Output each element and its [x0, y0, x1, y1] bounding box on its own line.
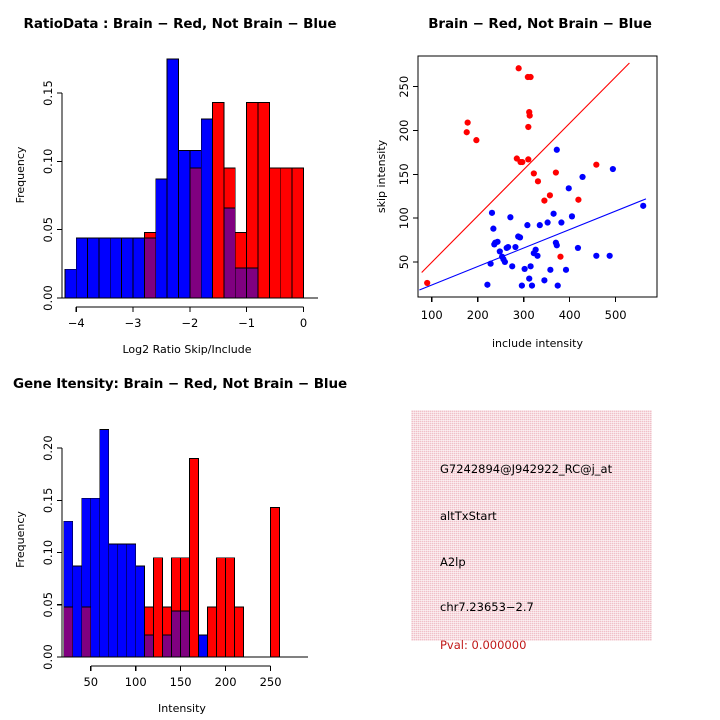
- scatter-point-not-brain: [522, 266, 528, 272]
- plot-area: [419, 63, 646, 290]
- panel-ratio-histogram: RatioData : Brain − Red, Not Brain − Blu…: [0, 0, 360, 360]
- scatter-point-not-brain: [509, 263, 515, 269]
- scatter-point-not-brain: [533, 247, 539, 253]
- histogram-bar-not-brain: [156, 179, 167, 298]
- histogram-bar-brain: [208, 607, 217, 657]
- scatter-point-not-brain: [575, 245, 581, 251]
- histogram-bar-not-brain: [127, 544, 136, 657]
- histogram-bar-not-brain: [110, 238, 121, 298]
- x-axis-tick-label: 200: [467, 308, 489, 322]
- scatter-point-not-brain: [534, 253, 540, 259]
- scatter-point-not-brain: [563, 267, 569, 273]
- y-axis-tick-label: 0.00: [41, 285, 55, 311]
- histogram-bar-not-brain: [65, 269, 76, 298]
- histogram-bar-overlap: [64, 607, 73, 657]
- y-axis-tick-label: 0.15: [41, 80, 55, 106]
- panel-intensity-scatter: Brain − Red, Not Brain − Blue 1002003004…: [360, 0, 720, 360]
- x-axis-tick-label: 200: [215, 675, 237, 689]
- scatter-point-brain: [464, 129, 470, 135]
- x-axis-tick-label: −4: [68, 316, 85, 330]
- scatter-point-brain: [541, 198, 547, 204]
- scatter-point-brain: [557, 254, 563, 260]
- scatter-point-not-brain: [610, 166, 616, 172]
- x-axis-tick-label: 500: [605, 308, 627, 322]
- y-axis-tick-label: 0.05: [41, 217, 55, 243]
- histogram-bar-overlap: [163, 635, 172, 657]
- histogram-bar-not-brain: [100, 429, 109, 657]
- histogram-bar-not-brain: [136, 566, 145, 657]
- scatter-point-not-brain: [489, 210, 495, 216]
- y-axis-label: skip intensity: [375, 139, 388, 213]
- histogram-bar-brain: [190, 459, 199, 657]
- scatter-point-brain: [593, 162, 599, 168]
- histogram-bar-not-brain: [118, 544, 127, 657]
- x-axis-tick-label: −1: [238, 316, 255, 330]
- panel-probe-info: G7242894@J942922_RC@j_at altTxStart A2lp…: [360, 360, 720, 720]
- scatter-point-not-brain: [554, 147, 560, 153]
- scatter-point-brain: [531, 170, 537, 176]
- histogram-bar-not-brain: [73, 566, 82, 657]
- histogram-bar-brain: [217, 558, 226, 657]
- intensity-scatter-plot: 10020030040050050100150200250include int…: [360, 0, 720, 360]
- x-axis-tick-label: 150: [170, 675, 192, 689]
- scatter-point-brain: [575, 197, 581, 203]
- scatter-point-brain: [424, 280, 430, 286]
- scatter-point-brain: [547, 192, 553, 198]
- scatter-point-brain: [535, 178, 541, 184]
- histogram-bar-brain: [292, 168, 303, 298]
- scatter-point-not-brain: [579, 174, 585, 180]
- scatter-point-brain: [553, 169, 559, 175]
- histogram-bar-brain: [154, 558, 163, 657]
- scatter-point-not-brain: [507, 214, 513, 220]
- histogram-bar-not-brain: [91, 498, 100, 657]
- x-axis-tick-label: 300: [513, 308, 535, 322]
- svg-gene-content: 0.000.050.100.150.2050100150200250Intens…: [14, 429, 308, 715]
- scatter-point-not-brain: [519, 283, 525, 289]
- scatter-point-brain: [528, 74, 534, 80]
- probe-info-box: G7242894@J942922_RC@j_at altTxStart A2lp…: [411, 410, 652, 641]
- histogram-bar-overlap: [144, 238, 155, 298]
- scatter-point-not-brain: [555, 283, 561, 289]
- scatter-point-brain: [516, 65, 522, 71]
- brain-fit-line: [422, 63, 630, 272]
- not-brain-fit-line: [419, 199, 646, 290]
- histogram-bar-overlap: [224, 208, 235, 298]
- histogram-bar-not-brain: [133, 238, 144, 298]
- scatter-point-not-brain: [484, 282, 490, 288]
- y-axis-tick-label: 200: [397, 120, 411, 142]
- histogram-bar-not-brain: [109, 544, 118, 657]
- histogram-bar-not-brain: [122, 238, 133, 298]
- histogram-bar-overlap: [190, 168, 201, 298]
- histogram-bar-overlap: [181, 611, 190, 657]
- histogram-bar-not-brain: [199, 635, 208, 657]
- panel-gene-histogram: Gene Itensity: Brain − Red, Not Brain − …: [0, 360, 360, 720]
- y-axis-tick-label: 50: [397, 255, 411, 270]
- scatter-point-not-brain: [505, 244, 511, 250]
- x-axis-tick-label: 100: [421, 308, 443, 322]
- y-axis-tick-label: 0.00: [41, 644, 55, 670]
- x-axis-tick-label: −3: [125, 316, 142, 330]
- histogram-bar-brain: [269, 168, 280, 298]
- histogram-bar-brain: [281, 168, 292, 298]
- histogram-bar-overlap: [82, 607, 91, 657]
- histogram-bar-overlap: [145, 635, 154, 657]
- histogram-bar-not-brain: [178, 150, 189, 298]
- y-axis-label: Frequency: [14, 511, 27, 568]
- scatter-point-not-brain: [607, 253, 613, 259]
- histogram-bar-not-brain: [88, 238, 99, 298]
- y-axis-tick-label: 0.15: [41, 488, 55, 514]
- scatter-point-brain: [525, 156, 531, 162]
- event-type-text: altTxStart: [440, 509, 497, 523]
- x-axis-tick-label: 100: [125, 675, 147, 689]
- scatter-point-not-brain: [512, 244, 518, 250]
- scatter-point-brain: [465, 120, 471, 126]
- scatter-point-not-brain: [640, 203, 646, 209]
- histogram-bar-not-brain: [167, 59, 178, 298]
- x-axis-tick-label: 400: [559, 308, 581, 322]
- histogram-bar-overlap: [235, 268, 246, 298]
- scatter-point-brain: [519, 159, 525, 165]
- histogram-bar-brain: [226, 558, 235, 657]
- scatter-point-not-brain: [526, 275, 532, 281]
- multi-panel-figure: RatioData : Brain − Red, Not Brain − Blu…: [0, 0, 720, 720]
- scatter-point-not-brain: [529, 283, 535, 289]
- scatter-point-not-brain: [528, 263, 534, 269]
- histogram-bar-brain: [258, 103, 269, 298]
- histogram-bar-not-brain: [201, 119, 212, 298]
- y-axis-tick-label: 250: [397, 76, 411, 98]
- svg-scatter-content: 10020030040050050100150200250include int…: [375, 56, 657, 350]
- histogram-bar-brain: [271, 508, 280, 657]
- scatter-point-brain: [473, 137, 479, 143]
- scatter-point-not-brain: [593, 253, 599, 259]
- ratio-histogram-plot: 0.000.050.100.15−4−3−2−10Log2 Ratio Skip…: [0, 0, 360, 360]
- locus-text: chr7.23653−2.7: [440, 600, 534, 614]
- histogram-bar-not-brain: [99, 238, 110, 298]
- pvalue-text: Pval: 0.000000: [440, 638, 526, 652]
- scatter-point-brain: [527, 112, 533, 118]
- scatter-point-not-brain: [566, 185, 572, 191]
- scatter-point-not-brain: [569, 213, 575, 219]
- scatter-point-not-brain: [550, 211, 556, 217]
- scatter-point-not-brain: [502, 259, 508, 265]
- svg-ratio-content: 0.000.050.100.15−4−3−2−10Log2 Ratio Skip…: [14, 59, 318, 356]
- x-axis-tick-label: 50: [83, 675, 98, 689]
- y-axis-tick-label: 0.05: [41, 592, 55, 618]
- scatter-point-not-brain: [490, 226, 496, 232]
- y-axis-tick-label: 0.10: [41, 540, 55, 566]
- y-axis-tick-label: 0.20: [41, 435, 55, 461]
- plot-frame: [418, 56, 657, 297]
- gene-histogram-plot: 0.000.050.100.150.2050100150200250Intens…: [0, 360, 360, 720]
- scatter-point-brain: [525, 124, 531, 130]
- scatter-point-not-brain: [517, 234, 523, 240]
- scatter-point-not-brain: [554, 242, 560, 248]
- probe-id-text: G7242894@J942922_RC@j_at: [440, 462, 612, 476]
- y-axis-label: Frequency: [14, 146, 27, 203]
- x-axis-label: Log2 Ratio Skip/Include: [122, 343, 251, 356]
- scatter-point-not-brain: [524, 222, 530, 228]
- scatter-point-not-brain: [558, 219, 564, 225]
- y-axis-tick-label: 150: [397, 163, 411, 185]
- histogram-bar-overlap: [172, 611, 181, 657]
- scatter-point-not-brain: [537, 222, 543, 228]
- scatter-point-not-brain: [545, 219, 551, 225]
- histogram-bar-brain: [235, 607, 244, 657]
- scatter-point-not-brain: [541, 277, 547, 283]
- histogram-bar-brain: [213, 103, 224, 298]
- x-axis-tick-label: 250: [260, 675, 282, 689]
- scatter-point-not-brain: [494, 239, 500, 245]
- histogram-bar-overlap: [247, 268, 258, 298]
- y-axis-tick-label: 0.10: [41, 149, 55, 175]
- gene-symbol-text: A2lp: [440, 555, 466, 569]
- histogram-bar-not-brain: [76, 238, 87, 298]
- x-axis-label: Intensity: [158, 702, 206, 715]
- scatter-point-not-brain: [488, 261, 494, 267]
- x-axis-tick-label: 0: [300, 316, 307, 330]
- y-axis-tick-label: 100: [397, 207, 411, 229]
- x-axis-label: include intensity: [492, 337, 584, 350]
- x-axis-tick-label: −2: [181, 316, 198, 330]
- scatter-point-not-brain: [547, 267, 553, 273]
